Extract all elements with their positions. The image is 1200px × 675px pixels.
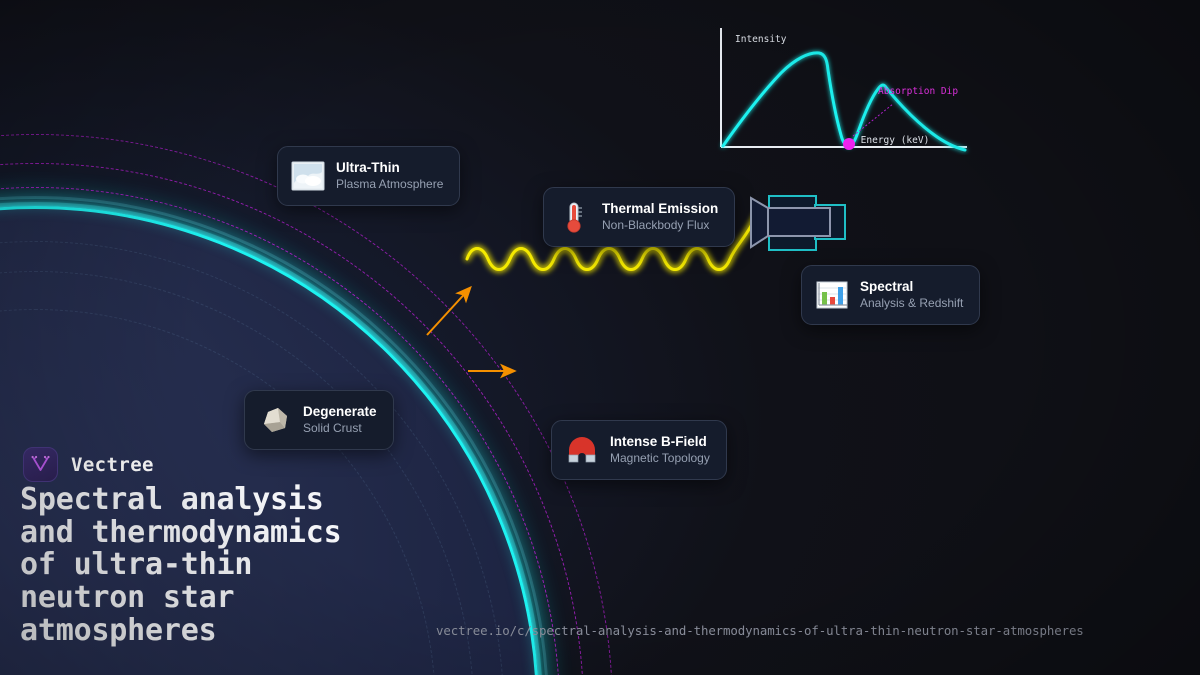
info-card-title: Thermal Emission <box>602 201 718 217</box>
info-card-subtitle: Solid Crust <box>303 422 377 436</box>
info-card-subtitle: Analysis & Redshift <box>860 297 963 311</box>
share-card-canvas: Intensity Energy (keV) Absorption Dip Ul… <box>0 0 1200 675</box>
bar-chart-icon <box>815 278 849 312</box>
chart-dip-marker <box>843 138 855 150</box>
info-card-subtitle: Magnetic Topology <box>610 452 710 466</box>
spectrum-chart: Intensity Energy (keV) Absorption Dip <box>715 22 973 155</box>
info-card-text-group: Thermal Emission Non-Blackbody Flux <box>602 201 718 232</box>
info-card-ultrathin[interactable]: Ultra-Thin Plasma Atmosphere <box>277 146 460 206</box>
brand-row: Vectree <box>23 447 154 482</box>
spectrum-chart-svg: Intensity Energy (keV) Absorption Dip <box>715 22 973 155</box>
chart-dip-annotation: Absorption Dip <box>878 86 958 97</box>
info-card-subtitle: Non-Blackbody Flux <box>602 219 718 233</box>
info-card-text-group: Spectral Analysis & Redshift <box>860 279 963 310</box>
vectree-v-tree-icon <box>30 454 51 475</box>
cloud-photo-icon <box>291 159 325 193</box>
vectree-logo <box>23 447 58 482</box>
share-url: vectree.io/c/spectral-analysis-and-therm… <box>436 623 1084 638</box>
magnet-icon <box>565 433 599 467</box>
info-card-text-group: Degenerate Solid Crust <box>303 404 377 435</box>
chart-x-axis-label: Energy (keV) <box>861 135 930 146</box>
info-card-title: Spectral <box>860 279 963 295</box>
info-card-degenerate[interactable]: Degenerate Solid Crust <box>244 390 394 450</box>
info-card-title: Ultra-Thin <box>336 160 443 176</box>
info-card-title: Degenerate <box>303 404 377 420</box>
brand-name: Vectree <box>71 454 154 476</box>
info-card-subtitle: Plasma Atmosphere <box>336 178 443 192</box>
chart-y-axis-label: Intensity <box>735 34 787 45</box>
info-card-title: Intense B-Field <box>610 434 710 450</box>
thermometer-icon <box>557 200 591 234</box>
page-title: Spectral analysis and thermodynamics of … <box>20 484 490 647</box>
rock-icon <box>258 403 292 437</box>
info-card-bfield[interactable]: Intense B-Field Magnetic Topology <box>551 420 727 480</box>
info-card-text-group: Ultra-Thin Plasma Atmosphere <box>336 160 443 191</box>
info-card-thermal[interactable]: Thermal Emission Non-Blackbody Flux <box>543 187 735 247</box>
info-card-spectral[interactable]: Spectral Analysis & Redshift <box>801 265 980 325</box>
info-card-text-group: Intense B-Field Magnetic Topology <box>610 434 710 465</box>
